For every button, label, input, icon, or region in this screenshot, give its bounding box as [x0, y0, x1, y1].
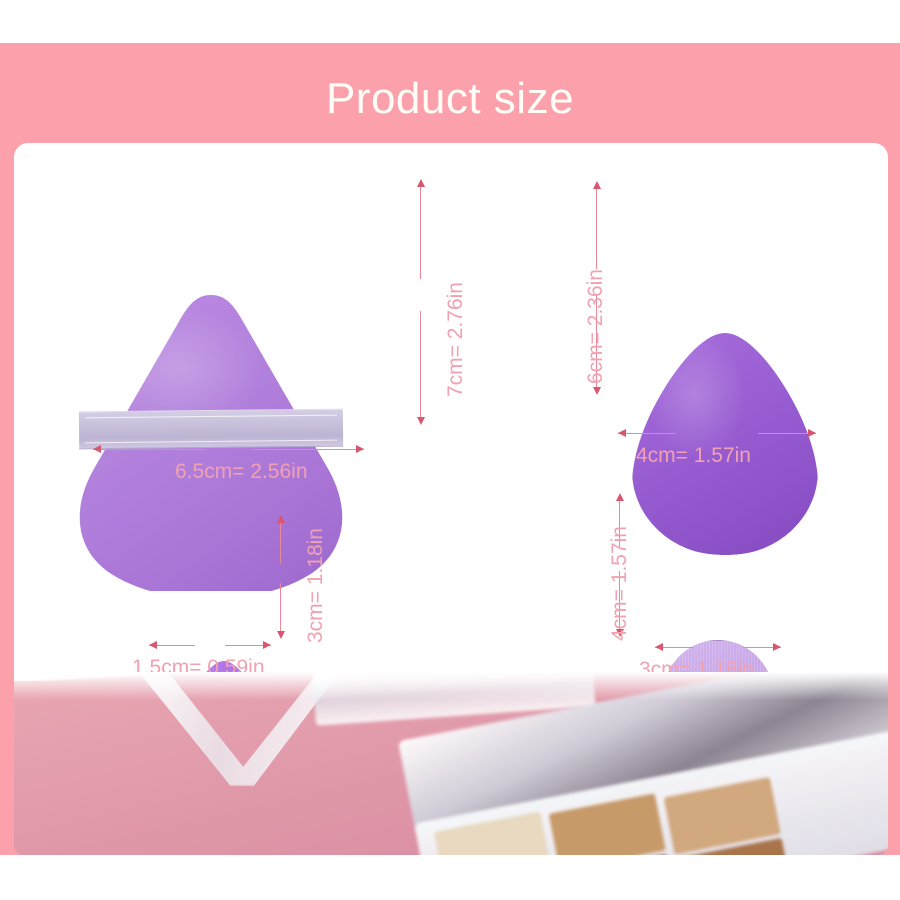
page-title: Product size [0, 70, 900, 128]
arrow-egg-puff-width-left [655, 643, 663, 651]
dim-line-small-sponge-height-bottom [280, 583, 281, 635]
product-size-infographic: Product size 6.5cm= 2.56in 7cm= 2.76in [0, 0, 900, 900]
lifestyle-photo [14, 672, 888, 855]
product-diagram-card: 6.5cm= 2.56in 7cm= 2.76in 4cm= 1.57in 6c… [14, 143, 888, 681]
dim-line-large-sponge-width-left [618, 433, 676, 434]
dim-label-triangle-height: 7cm= 2.76in [444, 282, 468, 397]
puff-elastic-strap [79, 409, 343, 450]
arrow-small-sponge-width-left [149, 641, 157, 649]
arrow-small-sponge-width-right [263, 641, 271, 649]
dim-line-triangle-width-left [93, 449, 205, 450]
dim-line-triangle-width-right [252, 449, 364, 450]
dim-label-triangle-width: 6.5cm= 2.56in [175, 460, 308, 484]
arrow-large-sponge-height-bottom [593, 387, 601, 395]
arrow-triangle-height-top [417, 179, 425, 187]
arrow-triangle-width-left [93, 445, 101, 453]
arrow-triangle-width-right [356, 445, 364, 453]
dim-label-egg-puff-height: 4cm= 1.57in [608, 526, 632, 641]
arrow-large-sponge-width-left [618, 429, 626, 437]
arrow-small-sponge-height-bottom [277, 631, 285, 639]
arrow-egg-puff-width-right [773, 643, 781, 651]
dim-label-large-sponge-width: 4cm= 1.57in [636, 444, 751, 468]
arrow-small-sponge-height-top [277, 515, 285, 523]
arrow-large-sponge-width-right [808, 429, 816, 437]
dim-label-small-sponge-height: 3cm= 1.18in [304, 528, 328, 643]
arrow-egg-puff-height-top [616, 493, 624, 501]
dim-line-small-sponge-height-top [280, 521, 281, 563]
arrow-large-sponge-height-top [593, 181, 601, 189]
photo-top-fade [14, 672, 888, 700]
dim-label-large-sponge-height: 6cm= 2.36in [584, 269, 608, 384]
dim-line-large-sponge-height-top [596, 187, 597, 269]
dim-line-triangle-height-top [420, 185, 421, 279]
arrow-triangle-height-bottom [417, 417, 425, 425]
dim-line-triangle-height-bottom [420, 311, 421, 421]
